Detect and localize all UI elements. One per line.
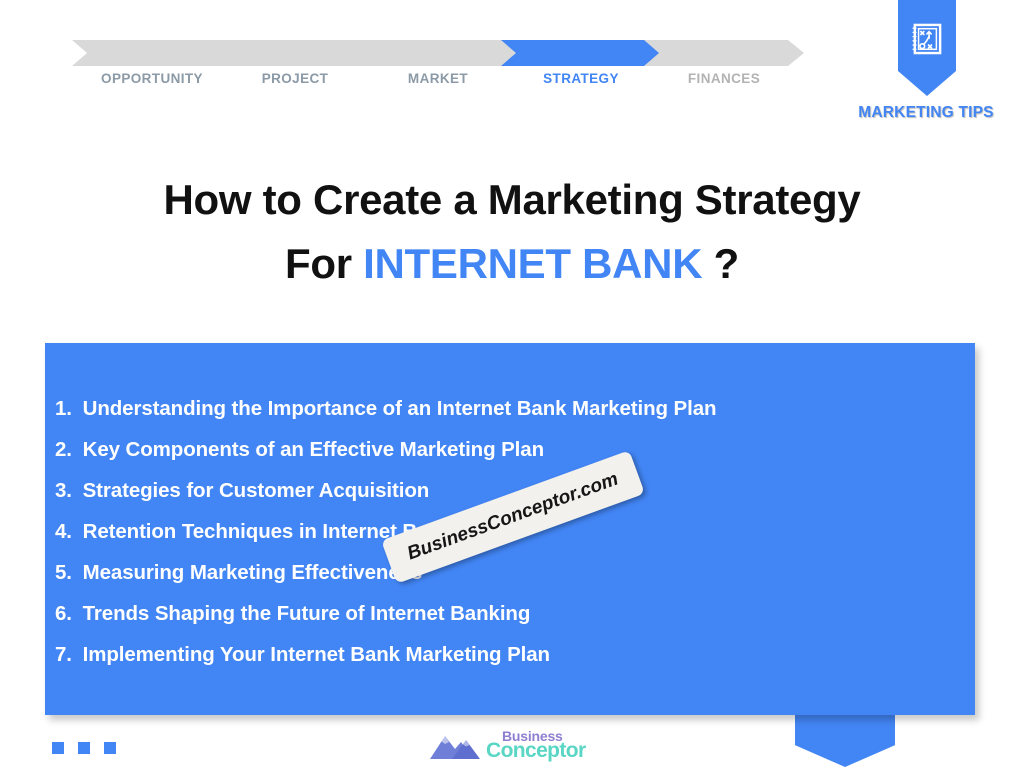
footer-dots	[52, 742, 142, 756]
headline-line-1: How to Create a Marketing Strategy	[0, 168, 1024, 232]
footer-logo-wordmark: Business Conceptor	[486, 726, 598, 764]
mountain-icon	[428, 730, 494, 760]
footer-dot	[52, 742, 64, 754]
chevron-shape	[501, 40, 661, 66]
chevron-shape	[215, 40, 375, 66]
agenda-item-text: Strategies for Customer Acquisition	[83, 479, 430, 502]
agenda-item-text: Implementing Your Internet Bank Marketin…	[83, 643, 550, 666]
headline-highlight: INTERNET BANK	[363, 240, 702, 287]
agenda-item: 1. Understanding the Importance of an In…	[55, 397, 965, 421]
nav-step-label: STRATEGY	[501, 71, 661, 86]
footer-logo: Business Conceptor	[428, 726, 596, 766]
nav-step-label: FINANCES	[644, 71, 804, 86]
agenda-item-number: 2.	[55, 438, 77, 462]
footer-dot	[104, 742, 116, 754]
nav-step-label: OPPORTUNITY	[72, 71, 232, 86]
agenda-item-number: 1.	[55, 397, 77, 421]
chevron-shape	[72, 40, 232, 66]
panel-pointer-arrow	[795, 715, 895, 767]
headline-prefix: For	[285, 240, 363, 287]
agenda-item-text: Key Components of an Effective Marketing…	[83, 438, 544, 461]
nav-step-strategy[interactable]: STRATEGY	[501, 40, 661, 66]
marketing-tips-badge: MARKETING TIPS	[846, 0, 1006, 132]
nav-step-project[interactable]: PROJECT	[215, 40, 375, 66]
footer-dot	[78, 742, 90, 754]
agenda-item-number: 3.	[55, 479, 77, 503]
nav-step-market[interactable]: MARKET	[358, 40, 518, 66]
agenda-item-number: 6.	[55, 602, 77, 626]
headline-line-2: For INTERNET BANK ?	[0, 232, 1024, 296]
marketing-tips-label: MARKETING TIPS	[846, 104, 1006, 122]
agenda-item-text: Measuring Marketing Effectiveness	[83, 561, 423, 584]
agenda-item-number: 7.	[55, 643, 77, 667]
agenda-item: 2. Key Components of an Effective Market…	[55, 438, 965, 462]
agenda-item: 7. Implementing Your Internet Bank Marke…	[55, 643, 965, 667]
strategy-playbook-icon	[912, 23, 942, 55]
nav-step-label: PROJECT	[215, 71, 375, 86]
logo-word-conceptor: Conceptor	[486, 739, 586, 763]
agenda-item-number: 5.	[55, 561, 77, 585]
headline-suffix: ?	[702, 240, 739, 287]
agenda-item: 6. Trends Shaping the Future of Internet…	[55, 602, 965, 626]
chevron-shape	[358, 40, 518, 66]
agenda-item-text: Understanding the Importance of an Inter…	[83, 397, 717, 420]
nav-step-opportunity[interactable]: OPPORTUNITY	[72, 40, 232, 66]
nav-step-label: MARKET	[358, 71, 518, 86]
nav-step-finances[interactable]: FINANCES	[644, 40, 804, 66]
page-title: How to Create a Marketing Strategy For I…	[0, 168, 1024, 296]
chevron-shape	[644, 40, 804, 66]
agenda-item-number: 4.	[55, 520, 77, 544]
agenda-item: 5. Measuring Marketing Effectiveness	[55, 561, 965, 585]
agenda-item-text: Trends Shaping the Future of Internet Ba…	[83, 602, 531, 625]
